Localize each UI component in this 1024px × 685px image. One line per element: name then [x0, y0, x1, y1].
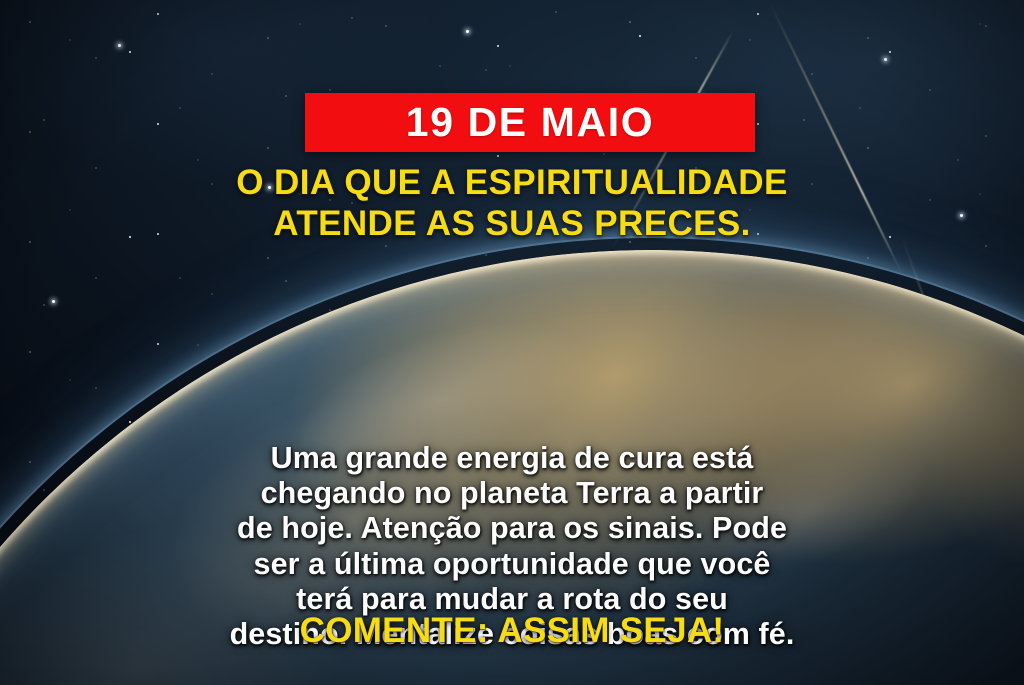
body-line-4: ser a última oportunidade que você	[0, 547, 1024, 582]
bright-star	[884, 58, 887, 61]
headline: O DIA QUE A ESPIRITUALIDADE ATENDE AS SU…	[0, 163, 1024, 244]
headline-line-2: ATENDE AS SUAS PRECES.	[0, 204, 1024, 245]
bright-star	[466, 30, 469, 33]
bright-star	[52, 300, 55, 303]
body-line-3: de hoje. Atenção para os sinais. Pode	[0, 511, 1024, 546]
date-banner-text: 19 DE MAIO	[406, 102, 654, 143]
date-banner: 19 DE MAIO	[305, 93, 755, 152]
poster-canvas: 19 DE MAIO O DIA QUE A ESPIRITUALIDADE A…	[0, 0, 1024, 685]
headline-line-1: O DIA QUE A ESPIRITUALIDADE	[0, 163, 1024, 204]
body-line-1: Uma grande energia de cura está	[0, 441, 1024, 476]
call-to-action-text: COMENTE: ASSIM SEJA!	[0, 612, 1024, 651]
body-line-2: chegando no planeta Terra a partir	[0, 476, 1024, 511]
bright-star	[118, 44, 121, 47]
